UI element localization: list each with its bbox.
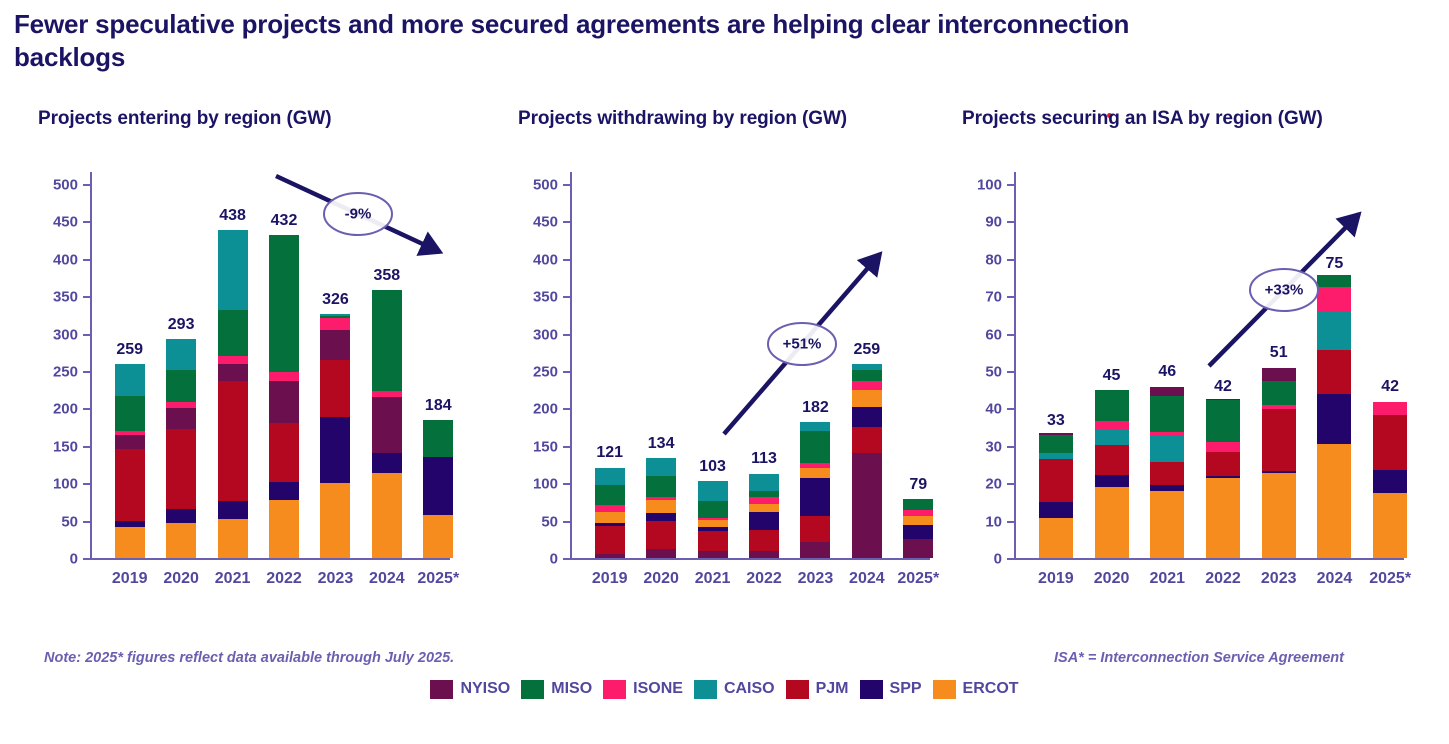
- bar-value-label: 45: [1083, 367, 1141, 385]
- y-tick-label: 100: [518, 476, 558, 493]
- bar-segment-ercot[interactable]: [1095, 487, 1129, 558]
- y-tick: [1007, 259, 1014, 261]
- y-tick-label: 150: [38, 438, 78, 455]
- legend-swatch-icon: [694, 680, 717, 699]
- bar-segment-spp[interactable]: [423, 457, 453, 515]
- bar-segment-isone[interactable]: [1150, 432, 1184, 435]
- bar-segment-nyiso[interactable]: [1039, 433, 1073, 434]
- bar-segment-nyiso[interactable]: [800, 542, 830, 558]
- bar-segment-spp[interactable]: [595, 523, 625, 526]
- bar-segment-nyiso[interactable]: [595, 554, 625, 558]
- x-tick-label: 2020: [632, 570, 690, 588]
- x-tick-label: 2020: [1081, 570, 1143, 588]
- bar-value-label: 121: [583, 444, 637, 462]
- bar-segment-ercot[interactable]: [115, 527, 145, 558]
- y-tick: [83, 371, 90, 373]
- bar-segment-ercot[interactable]: [1317, 444, 1351, 558]
- x-tick-label: 2024: [358, 570, 416, 588]
- bar-segment-miso[interactable]: [646, 476, 676, 498]
- bar-segment-miso[interactable]: [218, 310, 248, 356]
- y-tick: [563, 371, 570, 373]
- bar-value-label: 103: [686, 458, 740, 476]
- bar-segment-caiso[interactable]: [646, 458, 676, 476]
- bar-segment-miso[interactable]: [749, 491, 779, 497]
- bar-segment-isone[interactable]: [749, 497, 779, 504]
- x-tick-label: 2023: [306, 570, 364, 588]
- y-tick: [563, 483, 570, 485]
- y-tick: [563, 408, 570, 410]
- y-tick: [83, 446, 90, 448]
- bar-segment-ercot[interactable]: [800, 468, 830, 478]
- y-tick-label: 500: [518, 177, 558, 194]
- bar-segment-miso[interactable]: [852, 370, 882, 380]
- bar-segment-nyiso[interactable]: [166, 408, 196, 430]
- x-tick-label: 2019: [1025, 570, 1087, 588]
- bar-segment-miso[interactable]: [166, 370, 196, 401]
- legend-label: ISONE: [633, 680, 683, 698]
- bar-segment-spp[interactable]: [1150, 485, 1184, 491]
- bar-segment-pjm[interactable]: [320, 360, 350, 418]
- bar-2025[interactable]: [423, 420, 453, 558]
- bar-segment-nyiso[interactable]: [698, 551, 728, 558]
- bar-segment-pjm[interactable]: [749, 530, 779, 550]
- bar-segment-pjm[interactable]: [1373, 415, 1407, 470]
- x-tick-label: 2022: [255, 570, 313, 588]
- bar-2019[interactable]: [595, 468, 625, 559]
- bar-segment-ercot[interactable]: [1373, 493, 1407, 558]
- bar-segment-spp[interactable]: [1039, 502, 1073, 518]
- bar-segment-spp[interactable]: [1317, 394, 1351, 444]
- bar-2021[interactable]: [218, 230, 248, 558]
- y-tick-label: 20: [962, 476, 1002, 493]
- y-tick: [563, 446, 570, 448]
- bar-value-label: 358: [360, 267, 414, 285]
- bar-segment-isone[interactable]: [852, 381, 882, 390]
- legend-swatch-icon: [786, 680, 809, 699]
- bar-segment-nyiso[interactable]: [1206, 399, 1240, 400]
- y-tick: [1007, 446, 1014, 448]
- trend-callout-label: -9%: [345, 206, 372, 223]
- y-tick-label: 40: [962, 401, 1002, 418]
- y-tick-label: 0: [518, 551, 558, 568]
- bar-segment-pjm[interactable]: [595, 526, 625, 554]
- y-tick: [1007, 221, 1014, 223]
- bar-segment-caiso[interactable]: [1095, 429, 1129, 445]
- bar-segment-ercot[interactable]: [646, 500, 676, 513]
- bar-segment-miso[interactable]: [1206, 400, 1240, 443]
- bar-segment-caiso[interactable]: [595, 468, 625, 486]
- y-axis-line: [570, 172, 572, 558]
- bar-segment-caiso[interactable]: [115, 364, 145, 395]
- x-tick-label: 2021: [1136, 570, 1198, 588]
- x-tick-label: 2024: [1303, 570, 1365, 588]
- y-tick: [83, 521, 90, 523]
- y-tick: [83, 558, 90, 560]
- bar-segment-ercot[interactable]: [269, 500, 299, 558]
- bar-2022[interactable]: [1206, 401, 1240, 558]
- bar-segment-ercot[interactable]: [166, 523, 196, 558]
- y-tick: [1007, 371, 1014, 373]
- bar-segment-nyiso[interactable]: [903, 539, 933, 558]
- bar-segment-isone[interactable]: [646, 497, 676, 500]
- bar-2020[interactable]: [1095, 390, 1129, 558]
- x-tick-label: 2023: [1248, 570, 1310, 588]
- bar-segment-miso[interactable]: [320, 316, 350, 318]
- x-axis-line: [90, 558, 450, 560]
- bar-segment-miso[interactable]: [372, 290, 402, 391]
- legend-label: CAISO: [724, 680, 775, 698]
- x-tick-label: 2025*: [409, 570, 467, 588]
- note-left: Note: 2025* figures reflect data availab…: [44, 650, 454, 666]
- legend-swatch-icon: [603, 680, 626, 699]
- bar-value-label: 326: [308, 291, 362, 309]
- bar-value-label: 259: [103, 341, 157, 359]
- y-tick: [83, 184, 90, 186]
- x-tick-label: 2021: [204, 570, 262, 588]
- bar-segment-spp[interactable]: [166, 509, 196, 523]
- bar-2022[interactable]: [749, 473, 779, 558]
- y-tick-label: 300: [518, 326, 558, 343]
- bar-segment-pjm[interactable]: [800, 516, 830, 542]
- bar-segment-pjm[interactable]: [1206, 452, 1240, 476]
- bar-2023[interactable]: [1262, 367, 1296, 558]
- bar-segment-ercot[interactable]: [749, 504, 779, 512]
- bar-2019[interactable]: [1039, 435, 1073, 558]
- bar-segment-ercot[interactable]: [903, 516, 933, 525]
- legend-item-ercot[interactable]: ERCOT: [933, 680, 1019, 699]
- x-tick-label: 2023: [786, 570, 844, 588]
- y-tick-label: 0: [38, 551, 78, 568]
- y-axis-line: [1014, 172, 1016, 558]
- x-tick-label: 2024: [838, 570, 896, 588]
- y-tick: [83, 483, 90, 485]
- bar-segment-isone[interactable]: [218, 356, 248, 364]
- bar-2025[interactable]: [1373, 401, 1407, 558]
- y-tick: [563, 221, 570, 223]
- y-tick: [563, 259, 570, 261]
- chart-title-isa: Projects securing an ISA by region (GW): [962, 108, 1432, 130]
- y-tick: [1007, 408, 1014, 410]
- bar-segment-pjm[interactable]: [218, 381, 248, 501]
- y-tick-label: 90: [962, 214, 1002, 231]
- bar-segment-pjm[interactable]: [115, 449, 145, 521]
- y-tick: [83, 296, 90, 298]
- bar-segment-nyiso[interactable]: [646, 549, 676, 558]
- y-tick-label: 100: [38, 476, 78, 493]
- bar-segment-spp[interactable]: [115, 521, 145, 527]
- trend-callout-label: +33%: [1265, 282, 1304, 299]
- bar-segment-spp[interactable]: [1262, 471, 1296, 473]
- y-tick: [83, 334, 90, 336]
- bar-segment-pjm[interactable]: [1317, 350, 1351, 393]
- bar-value-label: 259: [840, 341, 894, 359]
- bar-segment-miso[interactable]: [1262, 381, 1296, 404]
- x-tick-label: 2021: [684, 570, 742, 588]
- y-tick: [563, 521, 570, 523]
- y-tick-label: 350: [518, 289, 558, 306]
- bar-2021[interactable]: [698, 481, 728, 558]
- y-tick-label: 50: [962, 364, 1002, 381]
- bar-segment-miso[interactable]: [903, 499, 933, 510]
- plot-area-isa: 0102030405060708090100332019452020462021…: [962, 166, 1432, 596]
- x-tick-label: 2025*: [1359, 570, 1421, 588]
- y-tick-label: 30: [962, 438, 1002, 455]
- bar-segment-pjm[interactable]: [269, 423, 299, 483]
- bar-segment-isone[interactable]: [372, 391, 402, 397]
- bar-value-label: 33: [1027, 412, 1085, 430]
- bar-segment-isone[interactable]: [1262, 405, 1296, 409]
- x-axis-line: [1014, 558, 1404, 560]
- bar-segment-nyiso[interactable]: [269, 381, 299, 423]
- bar-segment-isone[interactable]: [320, 318, 350, 330]
- bar-value-label: 293: [154, 316, 208, 334]
- bar-segment-pjm[interactable]: [646, 521, 676, 549]
- y-tick-label: 50: [518, 513, 558, 530]
- bar-segment-isone[interactable]: [800, 463, 830, 467]
- bar-segment-pjm[interactable]: [1262, 409, 1296, 471]
- legend-label: PJM: [816, 680, 849, 698]
- y-tick: [83, 221, 90, 223]
- bar-segment-ercot[interactable]: [423, 515, 453, 558]
- bar-segment-caiso[interactable]: [749, 474, 779, 492]
- bar-segment-isone[interactable]: [595, 505, 625, 512]
- legend-item-caiso[interactable]: CAISO: [694, 680, 775, 699]
- bar-segment-isone[interactable]: [166, 402, 196, 408]
- legend-item-pjm[interactable]: PJM: [786, 680, 849, 699]
- bar-segment-spp[interactable]: [698, 527, 728, 531]
- y-tick: [563, 184, 570, 186]
- bar-2019[interactable]: [115, 364, 145, 558]
- y-tick-label: 0: [962, 551, 1002, 568]
- bar-segment-spp[interactable]: [320, 417, 350, 483]
- y-tick: [563, 334, 570, 336]
- bar-segment-pjm[interactable]: [1095, 445, 1129, 475]
- y-tick: [563, 296, 570, 298]
- bar-segment-isone[interactable]: [1373, 402, 1407, 415]
- bar-segment-pjm[interactable]: [1150, 462, 1184, 485]
- y-tick: [1007, 521, 1014, 523]
- bar-segment-isone[interactable]: [115, 431, 145, 435]
- chart-title-entering: Projects entering by region (GW): [38, 108, 478, 130]
- trend-callout-label: +51%: [783, 336, 822, 353]
- bar-2020[interactable]: [166, 339, 196, 558]
- bar-segment-miso[interactable]: [1095, 390, 1129, 421]
- bar-segment-ercot[interactable]: [1039, 518, 1073, 558]
- bar-segment-spp[interactable]: [1206, 476, 1240, 478]
- y-tick: [563, 558, 570, 560]
- y-tick-label: 200: [38, 401, 78, 418]
- x-tick-label: 2019: [581, 570, 639, 588]
- bar-segment-isone[interactable]: [269, 372, 299, 381]
- bar-segment-nyiso[interactable]: [749, 551, 779, 558]
- legend-item-spp[interactable]: SPP: [860, 680, 922, 699]
- y-tick: [1007, 558, 1014, 560]
- bar-segment-pjm[interactable]: [698, 531, 728, 550]
- chart-panel-entering: Projects entering by region (GW) 0501001…: [38, 108, 478, 668]
- bar-segment-miso[interactable]: [1317, 275, 1351, 287]
- bar-segment-spp[interactable]: [218, 501, 248, 519]
- bar-2022[interactable]: [269, 235, 299, 558]
- legend-label: SPP: [890, 680, 922, 698]
- y-tick: [83, 408, 90, 410]
- bar-segment-isone[interactable]: [903, 510, 933, 516]
- bar-value-label: 46: [1138, 363, 1196, 381]
- bar-segment-miso[interactable]: [423, 420, 453, 457]
- bar-value-label: 42: [1194, 378, 1252, 396]
- bar-segment-ercot[interactable]: [698, 520, 728, 527]
- y-tick: [1007, 184, 1014, 186]
- bar-segment-caiso[interactable]: [166, 339, 196, 370]
- bar-segment-nyiso[interactable]: [115, 435, 145, 448]
- x-tick-label: 2022: [1192, 570, 1254, 588]
- y-tick-label: 80: [962, 251, 1002, 268]
- bar-2020[interactable]: [646, 458, 676, 558]
- bar-segment-pjm[interactable]: [1039, 459, 1073, 502]
- legend-item-nyiso[interactable]: NYISO: [430, 680, 510, 699]
- bar-segment-ercot[interactable]: [595, 512, 625, 523]
- bar-value-label: 432: [257, 212, 311, 230]
- bar-segment-spp[interactable]: [1373, 470, 1407, 494]
- y-tick-label: 60: [962, 326, 1002, 343]
- y-tick-label: 350: [38, 289, 78, 306]
- y-tick-label: 70: [962, 289, 1002, 306]
- bar-segment-ercot[interactable]: [852, 390, 882, 407]
- x-tick-label: 2022: [735, 570, 793, 588]
- legend-item-miso[interactable]: MISO: [521, 680, 592, 699]
- y-tick: [1007, 483, 1014, 485]
- bar-segment-caiso[interactable]: [218, 230, 248, 309]
- bar-segment-spp[interactable]: [646, 513, 676, 520]
- y-tick-label: 500: [38, 177, 78, 194]
- bar-2023[interactable]: [320, 314, 350, 558]
- bar-value-label: 51: [1250, 344, 1308, 362]
- legend-swatch-icon: [933, 680, 956, 699]
- bar-value-label: 184: [411, 397, 465, 415]
- bar-segment-ercot[interactable]: [1262, 473, 1296, 558]
- bar-segment-spp[interactable]: [269, 482, 299, 499]
- bar-2021[interactable]: [1150, 386, 1184, 558]
- bar-segment-spp[interactable]: [372, 453, 402, 473]
- chart-legend: NYISOMISOISONECAISOPJMSPPERCOT: [0, 676, 1449, 702]
- y-axis-line: [90, 172, 92, 558]
- bar-segment-miso[interactable]: [595, 485, 625, 504]
- bar-segment-isone[interactable]: [698, 518, 728, 519]
- legend-label: NYISO: [460, 680, 510, 698]
- bar-segment-ercot[interactable]: [372, 473, 402, 558]
- bar-segment-caiso[interactable]: [320, 314, 350, 315]
- x-tick-label: 2020: [152, 570, 210, 588]
- bar-segment-spp[interactable]: [800, 478, 830, 516]
- bar-value-label: 42: [1361, 378, 1419, 396]
- bar-segment-caiso[interactable]: [852, 364, 882, 370]
- y-tick: [1007, 296, 1014, 298]
- bar-segment-nyiso[interactable]: [852, 453, 882, 558]
- bar-segment-miso[interactable]: [698, 501, 728, 518]
- bar-segment-isone[interactable]: [1206, 442, 1240, 452]
- bar-value-label: 134: [634, 435, 688, 453]
- y-tick-label: 200: [518, 401, 558, 418]
- y-tick: [1007, 334, 1014, 336]
- bar-segment-pjm[interactable]: [852, 427, 882, 453]
- legend-item-isone[interactable]: ISONE: [603, 680, 683, 699]
- bar-segment-miso[interactable]: [1039, 435, 1073, 454]
- y-tick-label: 450: [38, 214, 78, 231]
- y-tick-label: 300: [38, 326, 78, 343]
- bar-segment-miso[interactable]: [115, 396, 145, 431]
- bar-segment-caiso[interactable]: [1150, 435, 1184, 462]
- y-tick-label: 10: [962, 513, 1002, 530]
- bar-value-label: 113: [737, 450, 791, 468]
- bar-segment-spp[interactable]: [749, 512, 779, 530]
- bar-segment-ercot[interactable]: [218, 519, 248, 558]
- page-title: Fewer speculative projects and more secu…: [14, 8, 1214, 75]
- x-tick-label: 2019: [101, 570, 159, 588]
- bar-segment-ercot[interactable]: [320, 483, 350, 558]
- bar-segment-isone[interactable]: [1317, 287, 1351, 312]
- bar-segment-nyiso[interactable]: [372, 397, 402, 453]
- bar-segment-spp[interactable]: [903, 525, 933, 539]
- legend-swatch-icon: [860, 680, 883, 699]
- legend-label: ERCOT: [963, 680, 1019, 698]
- bar-value-label: 79: [891, 476, 945, 494]
- y-tick-label: 400: [518, 251, 558, 268]
- bar-segment-nyiso[interactable]: [218, 364, 248, 381]
- bar-segment-caiso[interactable]: [800, 422, 830, 431]
- bar-2024[interactable]: [372, 290, 402, 558]
- bar-segment-ercot[interactable]: [1150, 491, 1184, 558]
- bar-segment-caiso[interactable]: [1039, 453, 1073, 458]
- y-tick-label: 50: [38, 513, 78, 530]
- note-right: ISA* = Interconnection Service Agreement: [1054, 650, 1344, 666]
- bar-2024[interactable]: [852, 364, 882, 558]
- bar-value-label: 438: [206, 207, 260, 225]
- bar-2025[interactable]: [903, 499, 933, 558]
- y-tick-label: 250: [518, 364, 558, 381]
- x-axis-line: [570, 558, 930, 560]
- y-tick-label: 450: [518, 214, 558, 231]
- bar-segment-miso[interactable]: [269, 235, 299, 372]
- bar-segment-nyiso[interactable]: [320, 330, 350, 360]
- bar-2023[interactable]: [800, 422, 830, 558]
- bar-segment-caiso[interactable]: [698, 481, 728, 501]
- bar-value-label: 75: [1305, 255, 1363, 273]
- bar-segment-miso[interactable]: [1150, 396, 1184, 432]
- y-tick-label: 400: [38, 251, 78, 268]
- x-tick-label: 2025*: [889, 570, 947, 588]
- legend-label: MISO: [551, 680, 592, 698]
- bar-segment-ercot[interactable]: [1206, 478, 1240, 558]
- chart-title-withdrawing: Projects withdrawing by region (GW): [518, 108, 958, 130]
- bar-segment-spp[interactable]: [1095, 475, 1129, 487]
- bar-2024[interactable]: [1317, 278, 1351, 559]
- plot-area-withdrawing: 0501001502002503003504004505001212019134…: [518, 166, 958, 596]
- bar-segment-caiso[interactable]: [1317, 312, 1351, 350]
- bar-segment-pjm[interactable]: [166, 429, 196, 508]
- legend-swatch-icon: [430, 680, 453, 699]
- chart-panel-withdrawing: Projects withdrawing by region (GW) 0501…: [518, 108, 958, 668]
- bar-segment-miso[interactable]: [800, 431, 830, 463]
- bar-segment-nyiso[interactable]: [1150, 387, 1184, 397]
- bar-value-label: 182: [788, 399, 842, 417]
- y-tick-label: 100: [962, 177, 1002, 194]
- legend-swatch-icon: [521, 680, 544, 699]
- y-tick-label: 250: [38, 364, 78, 381]
- bar-segment-nyiso[interactable]: [1262, 368, 1296, 381]
- chart-panel-isa: Projects securing an ISA by region (GW) …: [962, 108, 1432, 668]
- bar-segment-isone[interactable]: [1095, 421, 1129, 430]
- y-tick-label: 150: [518, 438, 558, 455]
- bar-segment-spp[interactable]: [852, 407, 882, 427]
